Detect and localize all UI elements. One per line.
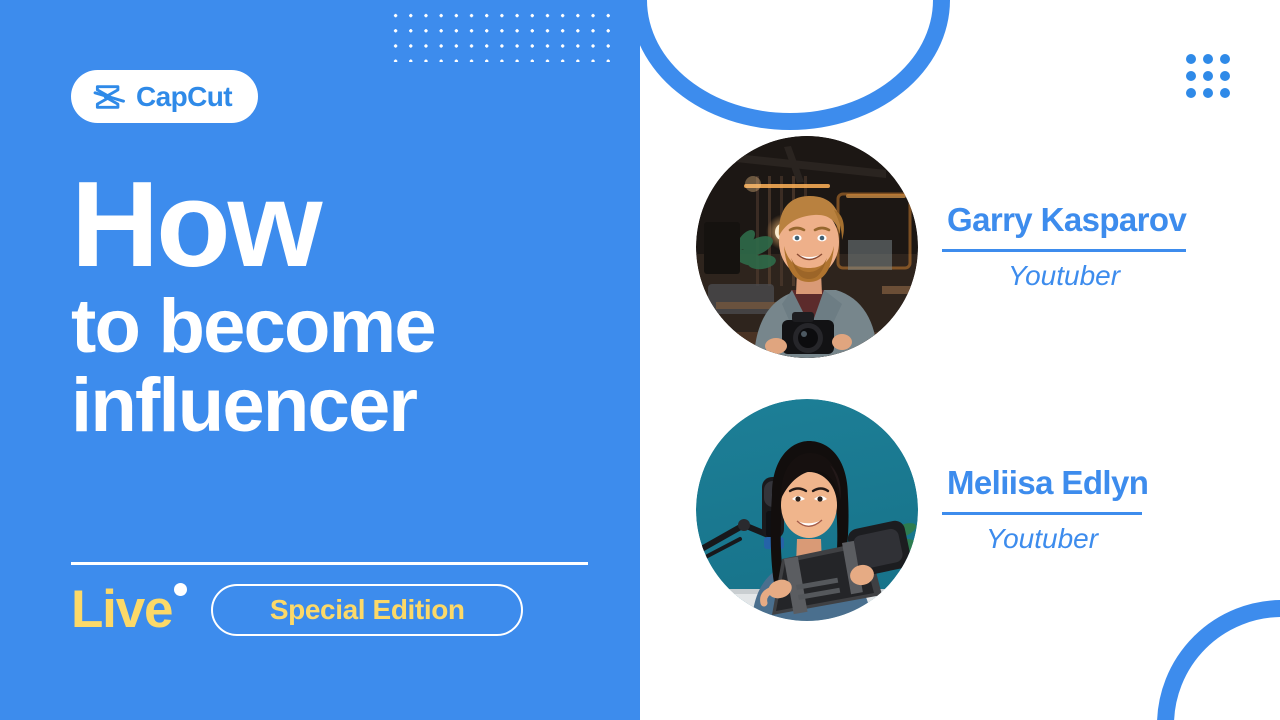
live-indicator-dot: [174, 583, 187, 596]
capcut-hourglass-icon: [93, 83, 126, 111]
avatar: [696, 136, 918, 358]
headline-line-2: to become: [71, 287, 611, 366]
grid-dot: [1186, 88, 1196, 98]
poster-canvas: CapCut How to become influencer Live Spe…: [0, 0, 1280, 720]
speaker-divider: [942, 249, 1186, 252]
live-label: Live: [71, 583, 178, 636]
speaker-name: Meliisa Edlyn: [947, 465, 1148, 501]
page-title: How to become influencer: [71, 168, 611, 446]
grid-dot: [1220, 88, 1230, 98]
capcut-logo[interactable]: CapCut: [71, 70, 258, 123]
speaker-info: Garry Kasparov Youtuber: [942, 202, 1186, 291]
speaker-divider: [942, 512, 1142, 515]
live-text: Live: [71, 580, 172, 639]
grid-dot: [1220, 71, 1230, 81]
speaker-role: Youtuber: [942, 524, 1142, 555]
grid-dot: [1186, 54, 1196, 64]
speaker-photo-1: [696, 136, 918, 358]
avatar: [696, 399, 918, 621]
speaker-photo-2: [696, 399, 918, 621]
grid-dot: [1203, 54, 1213, 64]
dot-grid-icon: [388, 8, 616, 62]
live-badge-row: Live Special Edition: [71, 583, 523, 636]
grid-dot: [1220, 54, 1230, 64]
grid-dot: [1203, 88, 1213, 98]
speaker-info: Meliisa Edlyn Youtuber: [942, 465, 1148, 554]
grid-dot: [1203, 71, 1213, 81]
special-edition-label: Special Edition: [270, 596, 465, 624]
capcut-wordmark: CapCut: [136, 83, 232, 111]
dot-grid-icon: [1186, 54, 1230, 98]
quarter-arc-icon: [1157, 600, 1280, 720]
divider: [71, 562, 588, 565]
special-edition-badge[interactable]: Special Edition: [211, 584, 523, 636]
quarter-arc-icon: [630, 0, 950, 130]
speaker-role: Youtuber: [942, 261, 1186, 292]
headline-line-1: How: [71, 168, 611, 281]
speaker-card-1[interactable]: Garry Kasparov Youtuber: [696, 136, 1186, 358]
headline-line-3: influencer: [71, 366, 611, 445]
grid-dot: [1186, 71, 1196, 81]
speaker-name: Garry Kasparov: [947, 202, 1186, 238]
speaker-card-2[interactable]: Meliisa Edlyn Youtuber: [696, 399, 1148, 621]
